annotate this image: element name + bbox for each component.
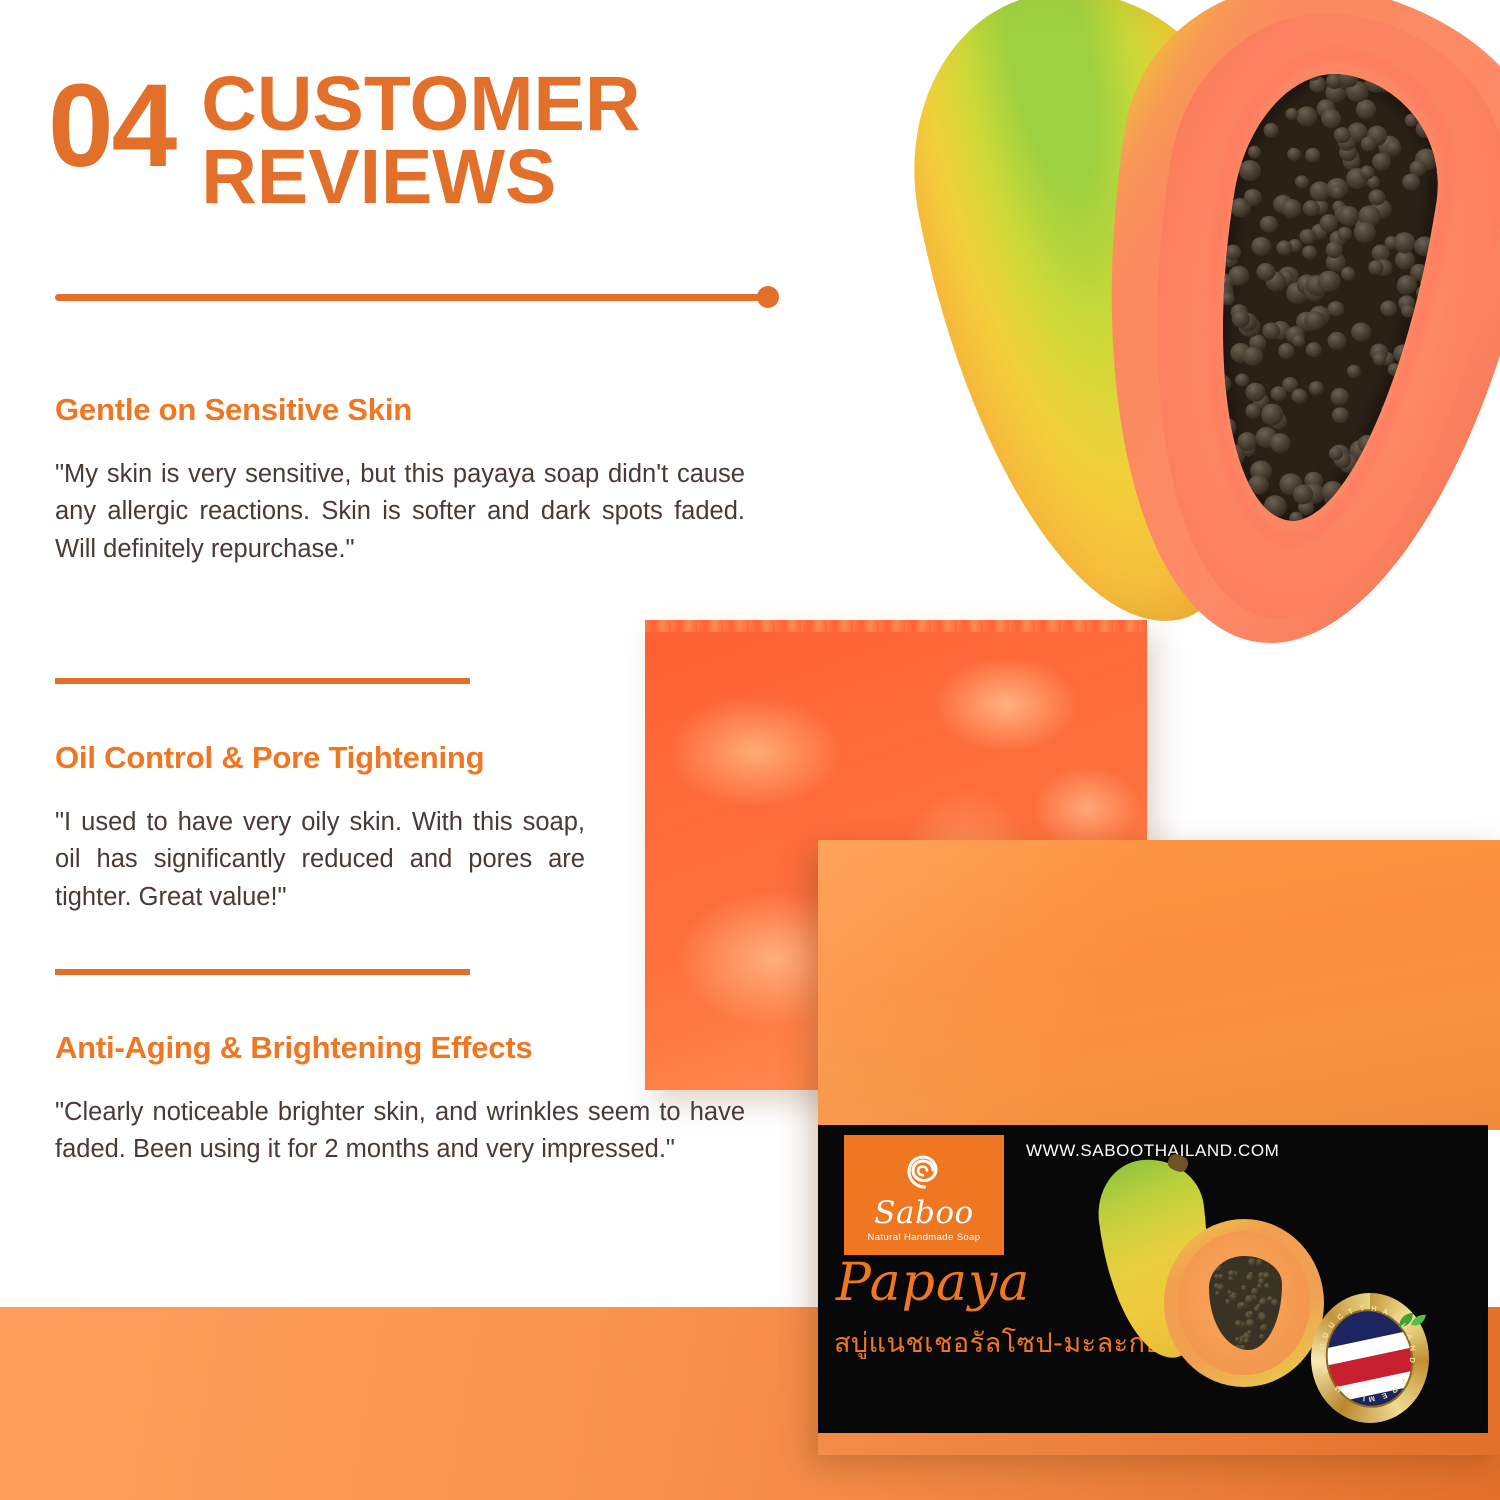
review-divider [55, 678, 470, 684]
review-title: Gentle on Sensitive Skin [55, 392, 745, 428]
section-header: 04 CUSTOMER REVIEWS [0, 0, 860, 214]
header-rule [55, 294, 770, 301]
review-item: Anti-Aging & Brightening Effects "Clearl… [55, 1030, 745, 1169]
soap-bar-plain [818, 840, 1500, 1130]
review-item: Oil Control & Pore Tightening "I used to… [55, 740, 585, 916]
label-papaya-illustration [1086, 1155, 1336, 1405]
section-number: 04 [48, 72, 175, 181]
product-flavor-name: Papaya [836, 1253, 1030, 1313]
spiral-icon [900, 1148, 948, 1196]
review-title: Anti-Aging & Brightening Effects [55, 1030, 745, 1066]
label-papaya-half [1164, 1219, 1324, 1387]
review-item: Gentle on Sensitive Skin "My skin is ver… [55, 392, 745, 568]
review-title: Oil Control & Pore Tightening [55, 740, 585, 776]
header-rule-dot [757, 286, 779, 308]
product-label: Saboo Natural Handmade Soap WWW.SABOOTHA… [818, 1125, 1488, 1433]
page-title: CUSTOMER REVIEWS [201, 68, 640, 214]
review-body: "I used to have very oily skin. With thi… [55, 804, 585, 916]
review-divider [55, 969, 470, 975]
review-body: "Clearly noticeable brighter skin, and w… [55, 1094, 745, 1169]
page-title-line1: CUSTOMER [201, 68, 640, 141]
brand-tagline: Natural Handmade Soap [868, 1232, 981, 1243]
review-body: "My skin is very sensitive, but this pay… [55, 456, 745, 568]
thailand-premium-seal: THAILAND PREMIUM PRODUCT [1311, 1293, 1429, 1423]
papaya-fruit-photo [930, 0, 1500, 680]
label-papaya-seeds [1209, 1256, 1283, 1350]
brand-name: Saboo [874, 1198, 973, 1229]
seal-text: THAILAND PREMIUM PRODUCT [1311, 1293, 1429, 1423]
brand-logo: Saboo Natural Handmade Soap [844, 1135, 1004, 1255]
product-package: Saboo Natural Handmade Soap WWW.SABOOTHA… [818, 840, 1500, 1455]
page-title-line2: REVIEWS [201, 141, 640, 214]
